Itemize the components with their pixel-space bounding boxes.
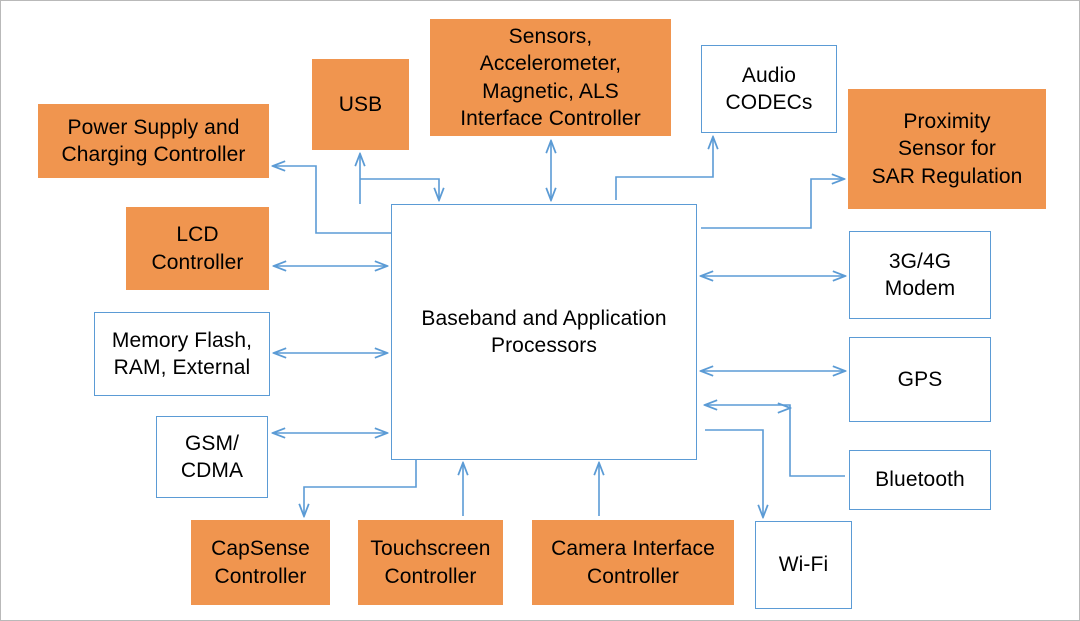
block-label: USB xyxy=(339,91,382,118)
block-label: Memory Flash, RAM, External xyxy=(112,327,252,382)
block-memory-flash[interactable]: Memory Flash, RAM, External xyxy=(94,312,270,396)
block-label: Power Supply and Charging Controller xyxy=(62,114,246,169)
block-label: GPS xyxy=(898,366,943,393)
wire-baseband-to-bluetooth-return xyxy=(705,405,845,476)
block-label: GSM/ CDMA xyxy=(181,430,243,485)
block-label: Camera Interface Controller xyxy=(551,535,715,590)
block-proximity-sensor[interactable]: Proximity Sensor for SAR Regulation xyxy=(848,89,1046,209)
block-audio-codecs[interactable]: Audio CODECs xyxy=(701,45,837,133)
block-lcd-controller[interactable]: LCD Controller xyxy=(126,207,269,290)
block-label: CapSense Controller xyxy=(211,535,310,590)
block-label: Sensors, Accelerometer, Magnetic, ALS In… xyxy=(460,23,641,132)
block-label: LCD Controller xyxy=(151,221,243,276)
block-power-supply[interactable]: Power Supply and Charging Controller xyxy=(38,104,269,178)
block-gps[interactable]: GPS xyxy=(849,337,991,422)
wire-baseband-to-audio-codecs xyxy=(616,137,713,200)
block-label: Proximity Sensor for SAR Regulation xyxy=(872,108,1023,190)
block-usb[interactable]: USB xyxy=(312,59,409,150)
block-capsense[interactable]: CapSense Controller xyxy=(191,520,330,605)
wire-baseband-to-power-supply xyxy=(273,166,391,233)
block-diagram-canvas: Power Supply and Charging ControllerUSBS… xyxy=(0,0,1080,621)
block-bluetooth[interactable]: Bluetooth xyxy=(849,450,991,510)
block-label: Audio CODECs xyxy=(726,62,813,117)
block-gsm-cdma[interactable]: GSM/ CDMA xyxy=(156,416,268,498)
block-label: 3G/4G Modem xyxy=(885,248,956,303)
wire-baseband-to-usb-branch xyxy=(360,179,439,200)
wire-baseband-to-wifi xyxy=(705,430,763,517)
block-label: Bluetooth xyxy=(875,466,965,493)
block-baseband[interactable]: Baseband and Application Processors xyxy=(391,204,697,460)
wire-baseband-to-proximity-sensor xyxy=(701,179,844,228)
wire-baseband-to-capsense xyxy=(304,460,416,516)
block-label: Wi-Fi xyxy=(779,551,828,578)
block-wifi[interactable]: Wi-Fi xyxy=(755,521,852,609)
block-camera-interface[interactable]: Camera Interface Controller xyxy=(532,520,734,605)
block-touchscreen[interactable]: Touchscreen Controller xyxy=(358,520,503,605)
block-modem-3g4g[interactable]: 3G/4G Modem xyxy=(849,231,991,319)
block-label: Touchscreen Controller xyxy=(370,535,490,590)
block-sensors[interactable]: Sensors, Accelerometer, Magnetic, ALS In… xyxy=(430,19,671,136)
block-label: Baseband and Application Processors xyxy=(421,305,666,360)
